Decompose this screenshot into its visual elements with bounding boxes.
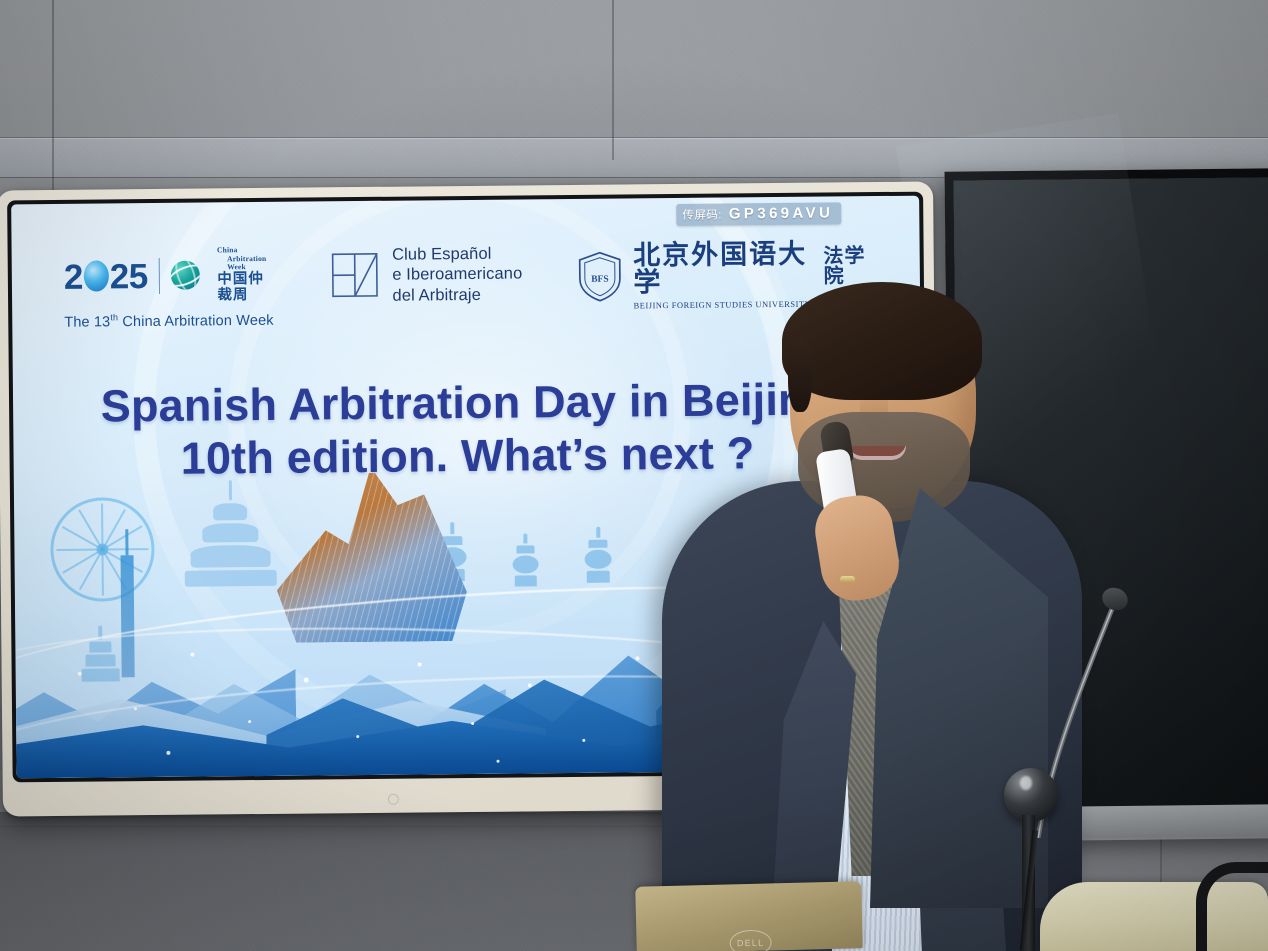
caw-en-line2: Arbitration Week — [217, 254, 275, 272]
caw-year-digit-3: 2 — [110, 260, 129, 295]
svg-text:BFS: BFS — [592, 275, 610, 285]
logo-club-espanol: Club Español e Iberoamericano del Arbitr… — [331, 243, 523, 306]
club-line-1: Club Español — [392, 243, 522, 265]
bfsu-shield-icon: BFS — [578, 252, 622, 302]
caw-subtitle-ordinal: th — [110, 312, 118, 322]
club-espanol-text: Club Español e Iberoamericano del Arbitr… — [392, 243, 523, 305]
caw-names: China Arbitration Week 中国仲裁周 — [217, 246, 276, 304]
pagoda-icon — [584, 527, 612, 585]
dell-logo: DELL — [729, 929, 772, 951]
bfsu-zh-sub: 法学院 — [823, 245, 880, 286]
caw-year-digit-4: 5 — [129, 259, 148, 294]
screen-cast-code-badge: 传屏码: GP369AVU — [676, 202, 841, 226]
presenter-hair — [782, 282, 982, 400]
ferris-wheel-icon — [50, 497, 155, 602]
presenter-mouth — [848, 446, 906, 460]
caw-subtitle-suffix: China Arbitration Week — [118, 312, 274, 329]
caw-year: 2 2 5 — [64, 257, 148, 295]
presenter-ring — [840, 576, 855, 583]
caw-subtitle-prefix: The 13 — [64, 314, 110, 330]
caw-lockup-top: 2 2 5 China Arbitration Week 中国仲裁周 — [64, 246, 276, 306]
caw-zh-name: 中国仲裁周 — [217, 272, 275, 304]
temple-of-heaven-icon — [184, 480, 277, 590]
cast-code-value: GP369AVU — [729, 204, 834, 222]
cast-code-label: 传屏码: — [682, 206, 721, 222]
display-brand-dot-icon — [388, 793, 399, 804]
globe-swirl-icon — [171, 261, 200, 290]
microphone-base-sphere — [1004, 768, 1058, 822]
club-espanol-mark-icon — [331, 251, 379, 299]
club-line-3: del Arbitraje — [392, 284, 522, 306]
screenshot-root: 传屏码: GP369AVU 2 2 5 — [0, 0, 1268, 951]
pagoda-icon — [512, 533, 539, 588]
dell-laptop[interactable]: DELL — [635, 881, 863, 951]
chair — [1196, 862, 1268, 951]
display-brand-mark — [388, 790, 508, 807]
wall-seam-vertical — [612, 0, 614, 160]
bfsu-zh-main: 北京外国语大学 — [633, 241, 815, 297]
logo-china-arbitration-week: 2 2 5 China Arbitration Week 中国仲裁周 — [64, 246, 276, 331]
presenter — [662, 300, 1082, 951]
club-line-2: e Iberoamericano — [392, 264, 522, 286]
caw-year-sphere-icon — [84, 261, 109, 292]
caw-year-digit-1: 2 — [64, 260, 83, 295]
caw-subtitle: The 13th China Arbitration Week — [64, 311, 274, 331]
caw-divider — [159, 258, 161, 294]
